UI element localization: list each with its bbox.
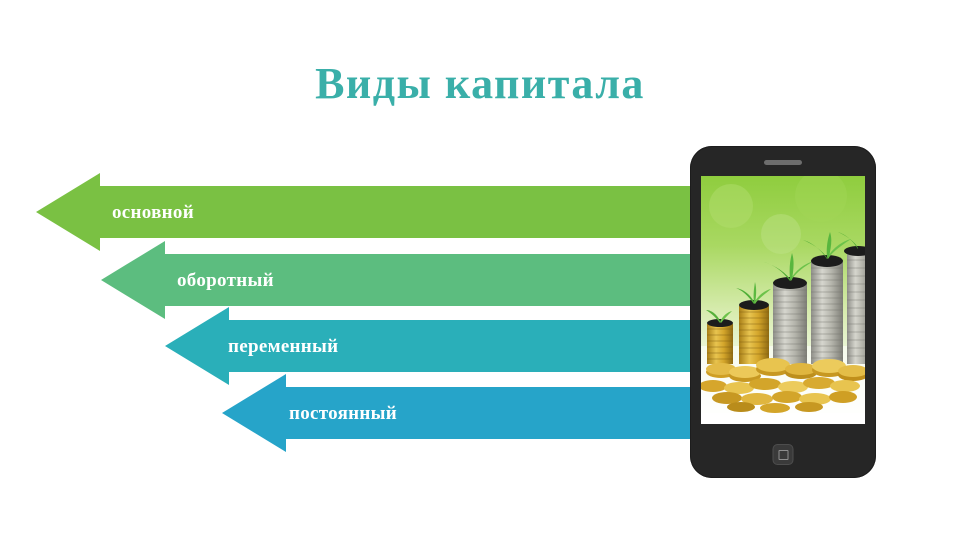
coins-and-plants-image <box>701 176 865 424</box>
arrow-label-peremenny: переменный <box>228 337 338 356</box>
phone-screen <box>701 176 865 424</box>
home-square-icon <box>778 450 788 460</box>
smartphone-mockup <box>690 146 876 478</box>
arrow-label-postoyanny: постоянный <box>289 404 397 423</box>
arrow-label-oborotny: оборотный <box>177 271 274 290</box>
page-title: Виды капитала <box>0 58 960 109</box>
home-button[interactable] <box>773 444 794 465</box>
slide-canvas: Виды капитала основной оборотный перемен… <box>0 0 960 540</box>
speaker-grille-icon <box>764 160 802 165</box>
arrow-label-osnovnoy: основной <box>112 203 194 222</box>
